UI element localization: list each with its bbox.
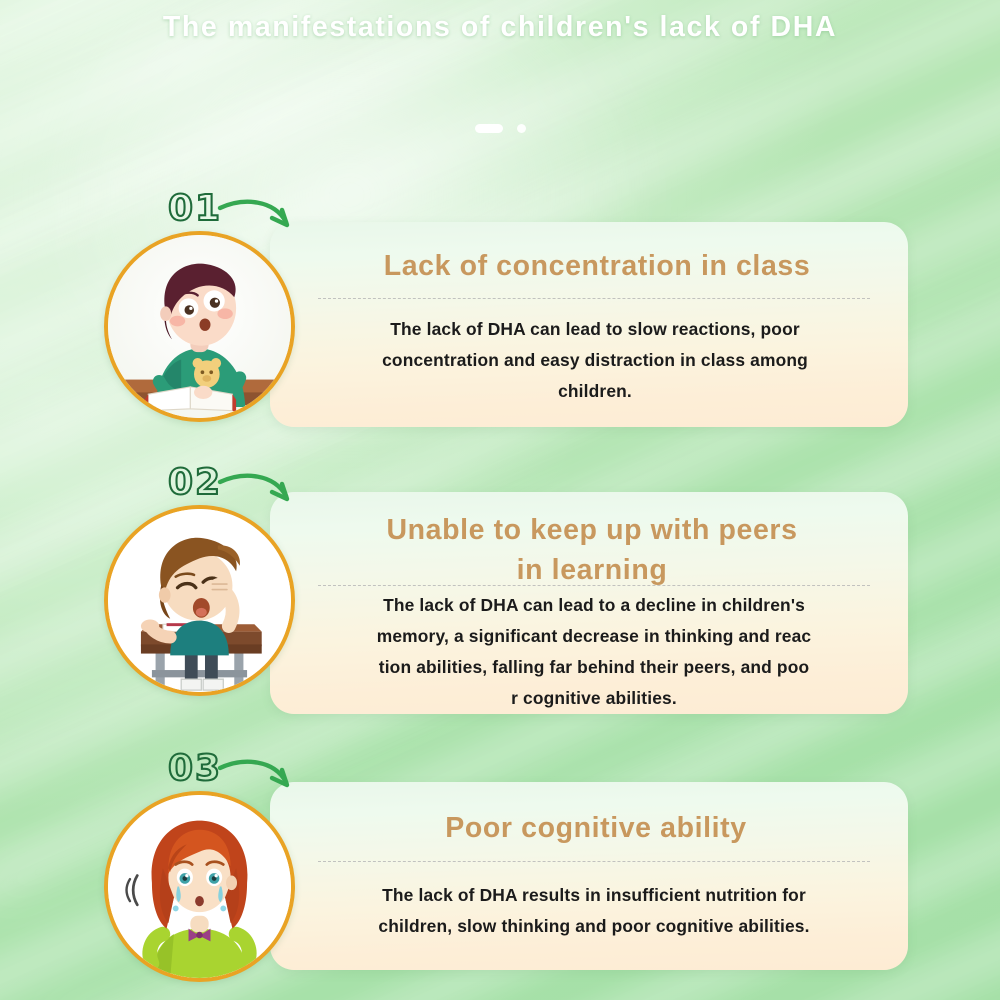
pagination-dot-inactive[interactable] [517,124,526,133]
card-2-heading-line-1: Unable to keep up with peers [386,514,797,546]
card-1-body: The lack of DHA can lead to slow reactio… [306,314,884,407]
infographic-page: The manifestations of children's lack of… [0,0,1000,1000]
card-3-arrow-icon [216,756,298,792]
card-3-heading: Poor cognitive ability [314,808,878,848]
card-3-panel: Poor cognitive ability The lack of DHA r… [270,782,908,970]
card-1-heading: Lack of concentration in class [316,246,878,286]
card-1-number: 01 [168,188,222,229]
card-2-number: 02 [168,462,222,503]
boy-reading-book-icon [108,235,291,418]
card-2-body-line-4: r cognitive abilities. [302,683,886,714]
card-3-divider [318,861,870,862]
page-title: The manifestations of children's lack of… [0,11,1000,44]
card-2-illustration [104,505,295,696]
card-2-body-line-3: tion abilities, falling far behind their… [302,652,886,683]
card-1-body-line-2: concentration and easy distraction in cl… [306,345,884,376]
card-1-illustration [104,231,295,422]
card-1-body-line-3: children. [306,376,884,407]
card-1-divider [318,298,870,299]
card-2-body: The lack of DHA can lead to a decline in… [302,590,886,714]
card-2-heading: Unable to keep up with peers in learning [310,510,874,591]
card-1-panel: Lack of concentration in class The lack … [270,222,908,427]
card-2-arrow-icon [216,470,298,506]
card-2-divider [318,585,870,586]
card-3-body: The lack of DHA results in insufficient … [302,880,886,942]
card-1-body-line-1: The lack of DHA can lead to slow reactio… [306,314,884,345]
card-2-heading-line-2: in learning [517,554,668,586]
card-3-body-line-1: The lack of DHA results in insufficient … [302,880,886,911]
tired-boy-at-desk-icon [108,509,291,692]
sad-crying-girl-icon [108,795,291,978]
pagination-indicator[interactable] [0,124,1000,133]
card-2-body-line-2: memory, a significant decrease in thinki… [302,621,886,652]
card-3-number: 03 [168,748,222,789]
card-3-body-line-2: children, slow thinking and poor cogniti… [302,911,886,942]
pagination-dot-active[interactable] [475,124,503,133]
card-2-panel: Unable to keep up with peers in learning… [270,492,908,714]
card-1-arrow-icon [216,196,298,232]
card-2-body-line-1: The lack of DHA can lead to a decline in… [302,590,886,621]
card-3-illustration [104,791,295,982]
